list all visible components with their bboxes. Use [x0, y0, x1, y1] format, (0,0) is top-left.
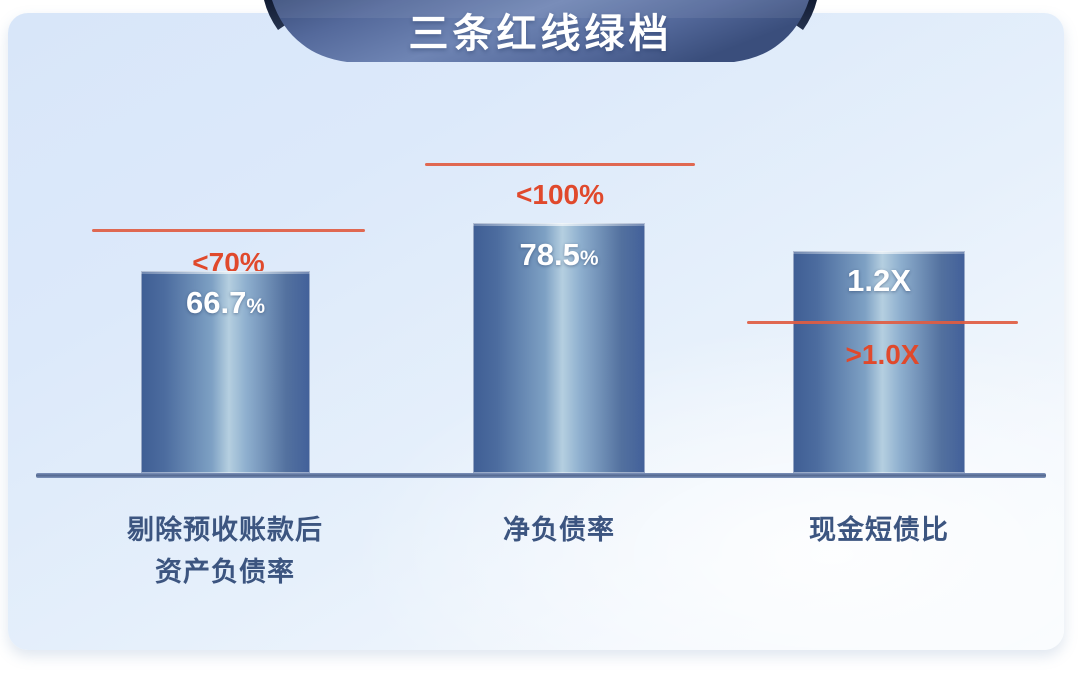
bar-3-value: 1.2X	[793, 263, 965, 299]
chart-title: 三条红线绿档	[264, 0, 817, 70]
bar-1-top-highlight	[141, 271, 310, 274]
bar-3-value-number: 1.2	[847, 263, 890, 298]
chart-card: <70% 66.7% 剔除预收账款后 资产负债率 <100% 78.5% 净负债…	[8, 13, 1064, 650]
category-label-3: 现金短债比	[749, 509, 1009, 551]
bar-3-top-highlight	[793, 251, 965, 254]
bar-3-value-unit: X	[890, 263, 911, 298]
bar-1-value: 66.7%	[141, 285, 310, 321]
category-label-1: 剔除预收账款后 资产负债率	[65, 509, 385, 593]
bar-1-value-number: 66.7	[186, 285, 246, 320]
bar-1: 66.7%	[141, 271, 310, 473]
category-label-2: 净负债率	[429, 509, 689, 551]
threshold-line-1	[92, 229, 365, 232]
bar-2-value-unit: %	[580, 247, 599, 270]
title-ribbon: 三条红线绿档	[264, 0, 817, 80]
axis-baseline	[36, 473, 1046, 478]
bar-2-value-number: 78.5	[519, 237, 579, 272]
threshold-label-2: <100%	[425, 179, 695, 211]
bar-2-top-highlight	[473, 223, 645, 226]
threshold-label-3: >1.0X	[747, 339, 1018, 371]
threshold-line-3	[747, 321, 1018, 324]
bar-2-value: 78.5%	[473, 237, 645, 273]
chart-plot-area: <70% 66.7% 剔除预收账款后 资产负债率 <100% 78.5% 净负债…	[8, 13, 1064, 650]
threshold-line-2	[425, 163, 695, 166]
bar-2: 78.5%	[473, 223, 645, 473]
bar-1-value-unit: %	[246, 295, 265, 318]
